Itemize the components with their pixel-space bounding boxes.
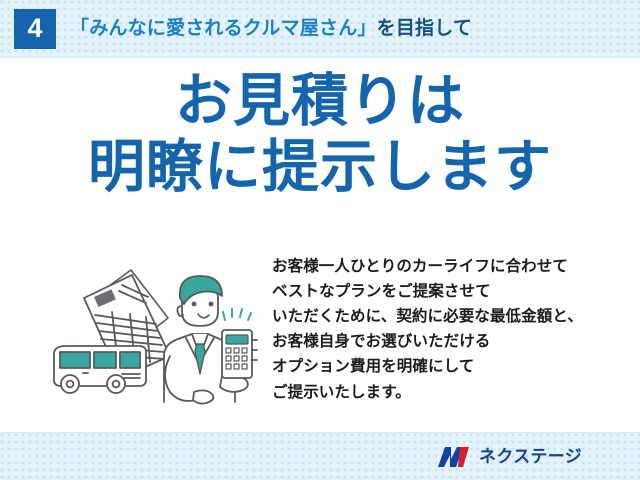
van-illustration [54,346,146,393]
headline: お見積りは 明瞭に提示します [0,72,640,196]
headline-line-1: お見積りは [0,72,640,130]
calculator-display [226,335,248,344]
step-number-badge: 4 [14,9,56,49]
illustration-sales-consultation [36,252,276,424]
body-copy-line-6: ご提示いたします。 [272,380,632,405]
brand-lockup: ネクステージ [436,445,582,469]
calculator [222,330,257,378]
body-copy: お客様一人ひとりのカーライフに合わせて ベストなプランをご提案させて いただくた… [272,254,632,405]
sparkle-icon [223,309,251,320]
body-copy-line-4: お客様自身でお選びいただける [272,329,632,354]
body-copy-line-3: いただくために、契約に必要な最低金額と、 [272,304,632,329]
brand-name: ネクステージ [479,448,582,465]
headline-line-2: 明瞭に提示します [0,138,640,196]
illustration-svg [36,252,276,424]
header-title-tail: を目指して [377,18,472,39]
promo-slide: 4 「みんなに愛されるクルマ屋さん」を目指して お見積りは 明瞭に提示します [0,0,640,480]
body-copy-line-2: ベストなプランをご提案させて [272,279,632,304]
header-title: 「みんなに愛されるクルマ屋さん」を目指して [70,19,472,38]
body-copy-line-5: オプション費用を明確にして [272,354,632,379]
header-title-quoted: 「みんなに愛されるクルマ屋さん」 [70,18,377,39]
body-copy-line-1: お客様一人ひとりのカーライフに合わせて [272,254,632,279]
footer-bar: ネクステージ [0,432,640,480]
nextage-logo-icon [436,445,472,469]
header-bar: 4 「みんなに愛されるクルマ屋さん」を目指して [0,0,640,58]
